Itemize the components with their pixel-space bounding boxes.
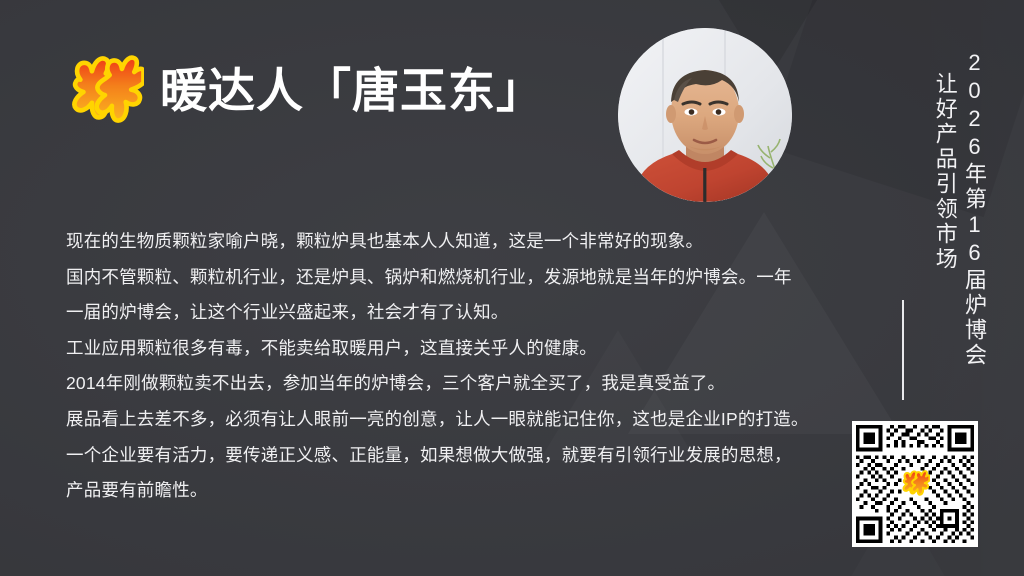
body-paragraph: 国内不管颗粒、颗粒机行业，还是炉具、锅炉和燃烧机行业，发源地就是当年的炉博会。一… (66, 264, 866, 291)
body-paragraph: 产品要有前瞻性。 (66, 477, 866, 504)
body-paragraph: 工业应用颗粒很多有毒，不能卖给取暖用户，这直接关乎人的健康。 (66, 335, 866, 362)
vertical-slogan-secondary: 让好产品引领市场 (931, 72, 958, 272)
body-paragraph: 展品看上去差不多，必须有让人眼前一亮的创意，让人一眼就能记住你，这也是企业IP的… (66, 406, 866, 433)
avatar (618, 28, 792, 202)
body-paragraph: 现在的生物质颗粒家喻户晓，颗粒炉具也基本人人知道，这是一个非常好的现象。 (66, 228, 866, 255)
body-paragraph: 2014年刚做颗粒卖不出去，参加当年的炉博会，三个客户就全买了，我是真受益了。 (66, 370, 866, 397)
qr-code[interactable] (852, 421, 978, 547)
body-paragraph: 一个企业要有活力，要传递正义感、正能量，如果想做大做强，就要有引领行业发展的思想… (66, 442, 866, 469)
vertical-slogan-group: 让好产品引领市场 2026年第16届炉博会 (931, 50, 988, 368)
flame-logo-small (900, 469, 930, 499)
flame-logo (66, 52, 144, 132)
body-copy: 现在的生物质颗粒家喻户晓，颗粒炉具也基本人人知道，这是一个非常好的现象。 国内不… (66, 228, 866, 513)
slide-root: 暖达人「唐玉东」 (0, 0, 1024, 576)
vertical-slogan-primary: 2026年第16届炉博会 (961, 50, 988, 368)
header: 暖达人「唐玉东」 (66, 52, 544, 132)
page-title: 暖达人「唐玉东」 (160, 69, 544, 116)
vertical-divider (902, 300, 904, 400)
body-paragraph: 一届的炉博会，让这个行业兴盛起来，社会才有了认知。 (66, 299, 866, 326)
